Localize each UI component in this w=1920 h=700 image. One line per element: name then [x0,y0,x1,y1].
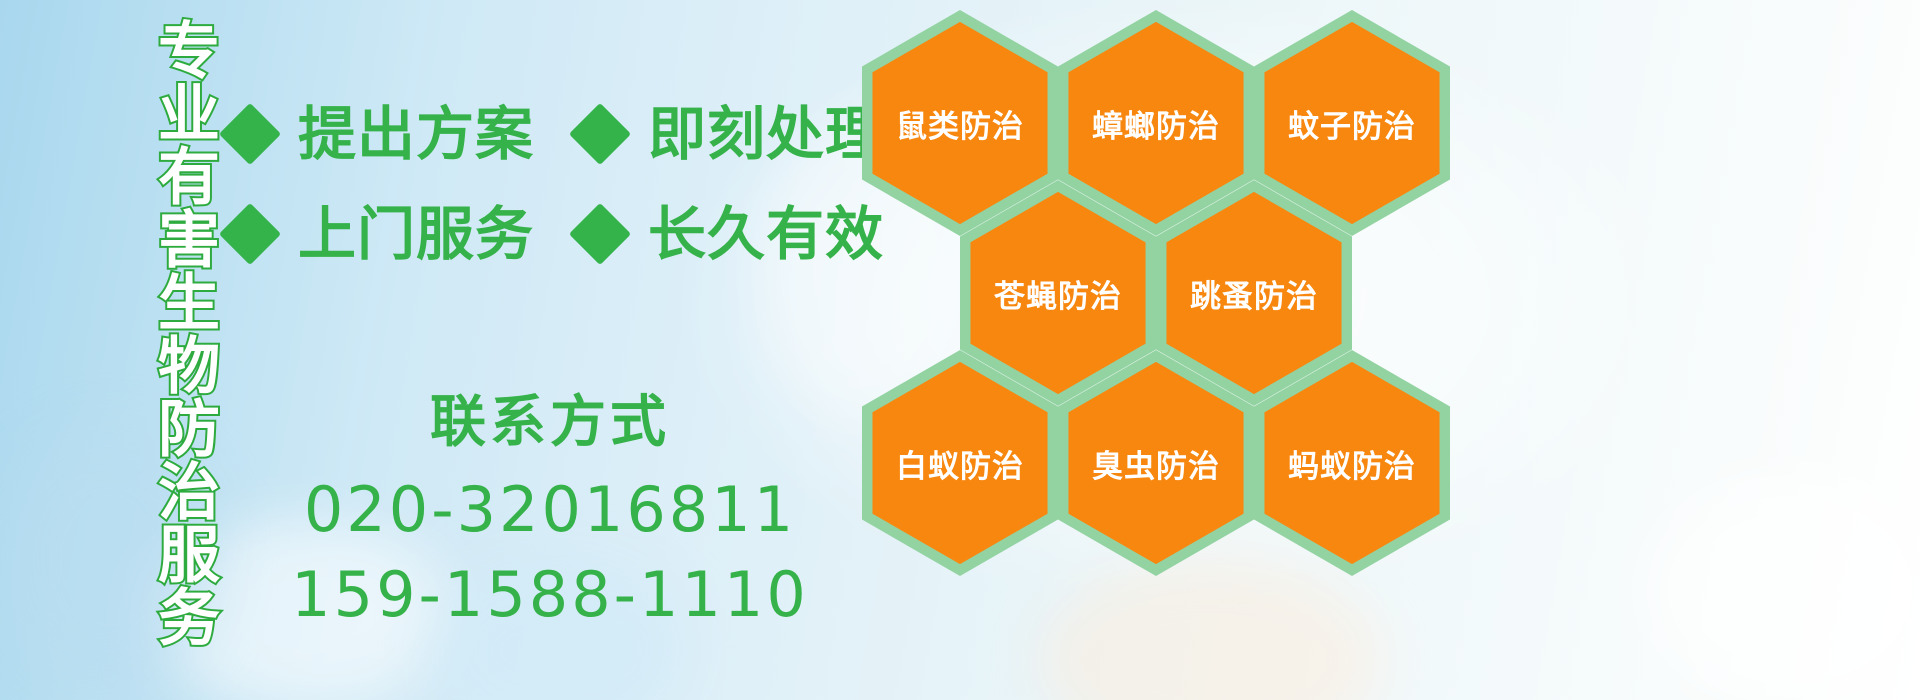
feature-label: 提出方案 [298,105,534,163]
service-label: 蚂蚁防治 [1254,350,1450,576]
feature-item-propose-plan: 提出方案 [228,105,534,163]
feature-label: 即刻处理 [648,105,884,163]
feature-list: 提出方案 即刻处理 上门服务 长久有效 [228,84,868,284]
feature-item-onsite-service: 上门服务 [228,205,534,263]
service-label: 白蚁防治 [862,350,1058,576]
phone-mobile[interactable]: 159-1588-1110 [230,553,870,637]
service-label: 臭虫防治 [1058,350,1254,576]
diamond-icon [569,103,631,165]
feature-label: 上门服务 [298,205,534,263]
feature-label: 长久有效 [648,205,884,263]
diamond-icon [219,203,281,265]
feature-item-immediate-handling: 即刻处理 [578,105,884,163]
contact-title: 联系方式 [230,392,870,454]
pest-control-banner: 专业有害生物防治服务 提出方案 即刻处理 上门服务 长久有效 联系方式 [0,0,1920,700]
service-hex-ant[interactable]: 蚂蚁防治 [1254,350,1450,576]
service-hex-termite[interactable]: 白蚁防治 [862,350,1058,576]
background-bokeh-blob [1640,470,1920,700]
diamond-icon [569,203,631,265]
feature-row: 上门服务 长久有效 [228,184,868,284]
phone-landline[interactable]: 020-32016811 [230,468,870,552]
service-honeycomb: 鼠类防治 蟑螂防治 蚊子防治 苍蝇防治 跳蚤防治 白蚁防治 [862,0,1462,700]
diamond-icon [219,103,281,165]
contact-block: 联系方式 020-32016811 159-1588-1110 [230,392,870,637]
feature-row: 提出方案 即刻处理 [228,84,868,184]
service-hex-bedbug[interactable]: 臭虫防治 [1058,350,1254,576]
vertical-headline: 专业有害生物防治服务 [108,18,216,686]
feature-item-long-lasting: 长久有效 [578,205,884,263]
